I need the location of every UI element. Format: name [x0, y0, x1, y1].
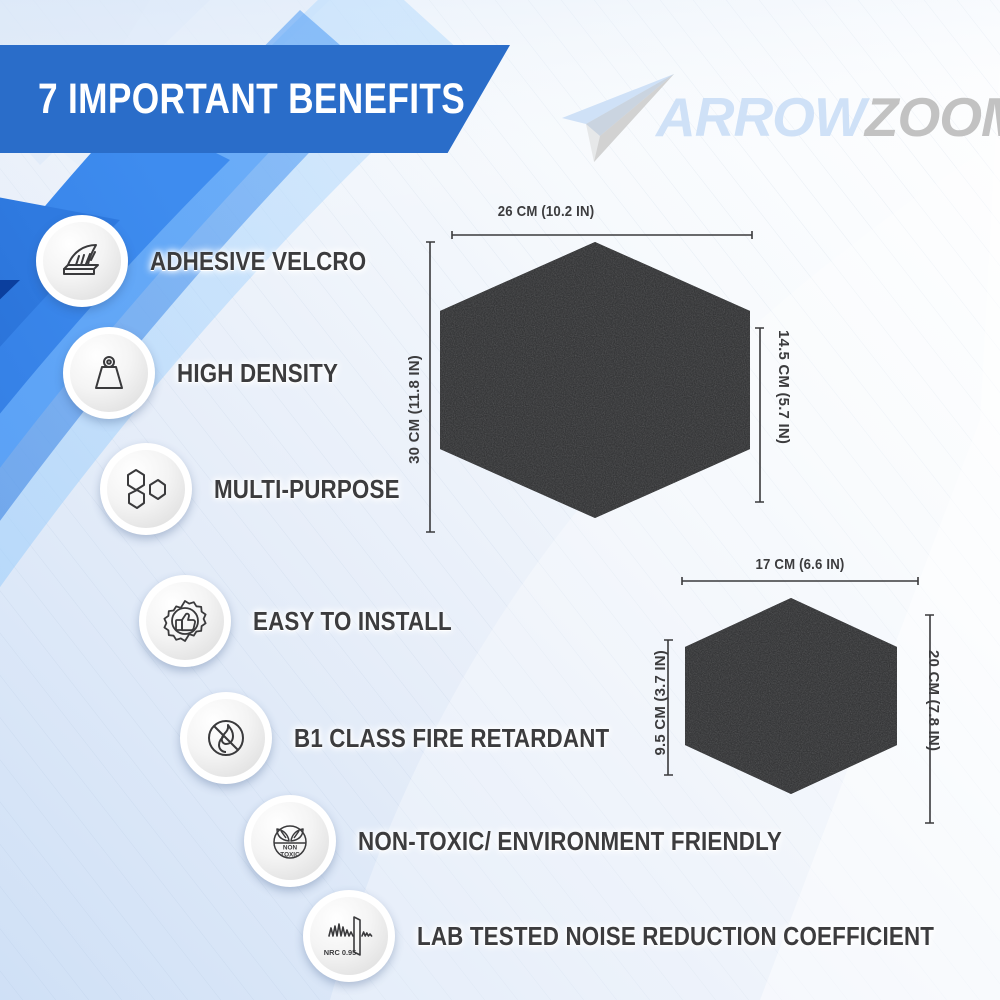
- logo-wordmark: ARROWZOOM: [656, 86, 1000, 148]
- benefit-icon-bubble: [180, 692, 272, 784]
- large-panel-side-label: 14.5 CM (5.7 IN): [775, 330, 792, 444]
- benefit-icon-bubble: [139, 575, 231, 667]
- benefit-label: MULTI-PURPOSE: [214, 474, 400, 505]
- weight-icon: [70, 334, 148, 412]
- no-fire-icon: [187, 699, 265, 777]
- small-panel-width-label: 17 CM (6.6 IN): [755, 556, 844, 573]
- benefit-icon-bubble: NRC 0.95: [303, 890, 395, 982]
- nrc-waveform-icon: NRC 0.95: [310, 897, 388, 975]
- benefit-row-fire-retardant[interactable]: B1 CLASS FIRE RETARDANT: [180, 692, 661, 784]
- non-toxic-label-line1: NON: [283, 845, 298, 852]
- small-panel-height-label: 9.5 CM (3.7 IN): [652, 650, 669, 756]
- benefit-label: EASY TO INSTALL: [253, 606, 452, 637]
- benefit-icon-bubble: [36, 215, 128, 307]
- benefit-label: LAB TESTED NOISE REDUCTION COEFFICIENT: [417, 921, 934, 952]
- benefit-icon-bubble: [100, 443, 192, 535]
- hexagons-icon: [107, 450, 185, 528]
- benefit-icon-bubble: NON TOXIC: [244, 795, 336, 887]
- benefit-row-high-density[interactable]: HIGH DENSITY: [63, 327, 364, 419]
- benefit-row-nrc[interactable]: NRC 0.95 LAB TESTED NOISE REDUCTION COEF…: [303, 890, 1000, 982]
- small-panel-side-label: 20 CM (7.8 IN): [925, 650, 942, 751]
- benefit-row-adhesive-velcro[interactable]: ADHESIVE VELCRO: [36, 215, 402, 307]
- non-toxic-label-line2: TOXIC: [280, 852, 300, 859]
- benefit-row-easy-to-install[interactable]: EASY TO INSTALL: [139, 575, 484, 667]
- large-panel-width-label: 26 CM (10.2 IN): [498, 203, 595, 220]
- velcro-strip-icon: [43, 222, 121, 300]
- benefit-label: HIGH DENSITY: [177, 358, 338, 389]
- benefit-label: ADHESIVE VELCRO: [150, 246, 366, 277]
- large-panel-dimension-lines: [420, 200, 780, 540]
- logo-text-arrow: ARROW: [656, 86, 865, 148]
- small-panel-dimension-lines: [650, 555, 950, 835]
- benefit-icon-bubble: [63, 327, 155, 419]
- large-panel-height-label: 30 CM (11.8 IN): [406, 355, 423, 464]
- benefit-row-multi-purpose[interactable]: MULTI-PURPOSE: [100, 443, 430, 535]
- nrc-value-label: NRC 0.95: [324, 948, 356, 957]
- logo-text-zoom: ZOOM: [865, 86, 1000, 148]
- infographic-canvas: 7 IMPORTANT BENEFITS ARROWZOOM ADHESIVE: [0, 0, 1000, 1000]
- benefit-label: B1 CLASS FIRE RETARDANT: [294, 723, 609, 754]
- non-toxic-icon: NON TOXIC: [251, 802, 329, 880]
- brand-logo[interactable]: ARROWZOOM: [556, 72, 976, 164]
- page-title: 7 IMPORTANT BENEFITS: [38, 55, 465, 143]
- gear-thumbs-up-icon: [146, 582, 224, 660]
